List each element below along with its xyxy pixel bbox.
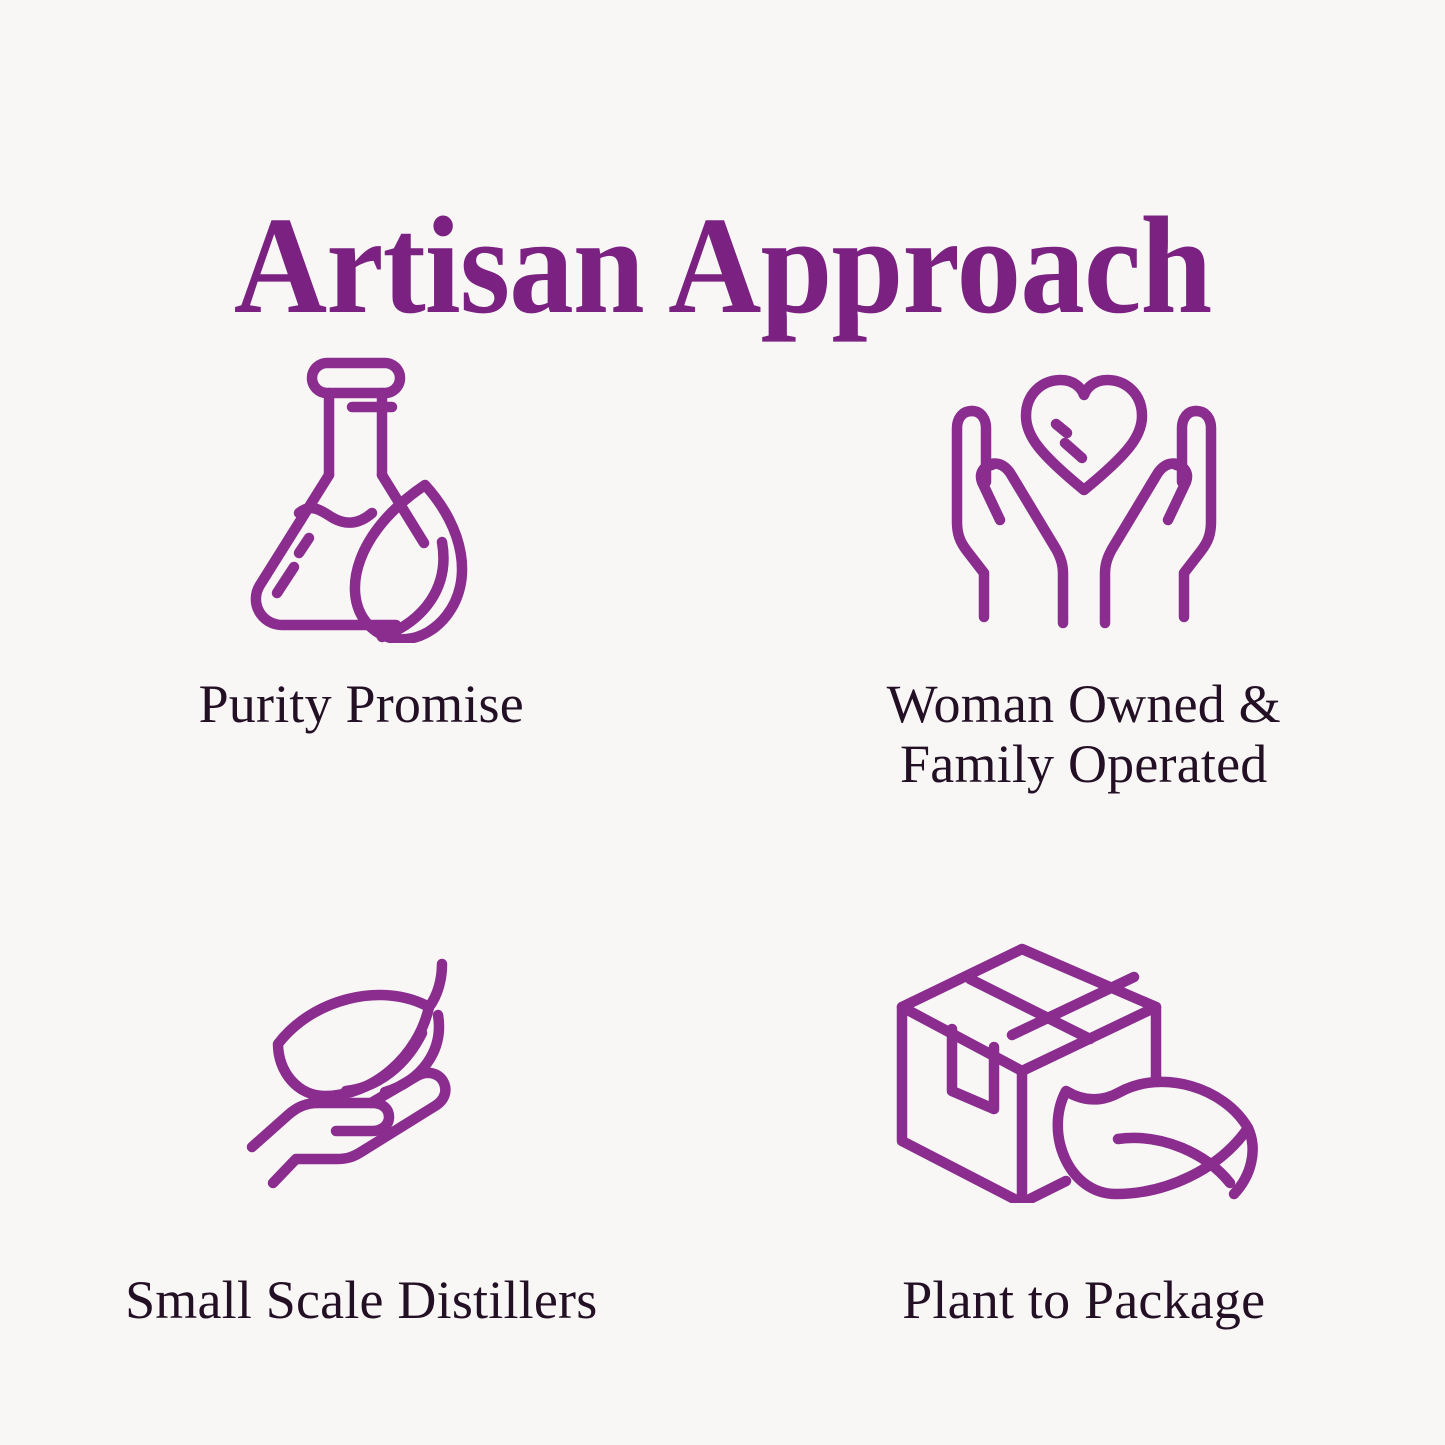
feature-caption-line-2: Family Operated <box>887 734 1281 794</box>
feature-icon-container <box>894 922 1274 1222</box>
feature-icon-container <box>936 348 1232 648</box>
feature-caption: Small Scale Distillers <box>125 1270 597 1330</box>
feature-caption-line-1: Woman Owned & <box>887 674 1281 734</box>
feature-caption: Plant to Package <box>902 1270 1265 1330</box>
artisan-approach-graphic: Artisan Approach <box>0 0 1445 1445</box>
page-title: Artisan Approach <box>234 197 1212 336</box>
feature-caption-line-1: Plant to Package <box>902 1270 1265 1330</box>
feature-caption: Woman Owned & Family Operated <box>887 674 1281 795</box>
feature-caption: Purity Promise <box>199 674 524 734</box>
feature-caption-line-1: Purity Promise <box>199 674 524 734</box>
box-with-leaf-icon <box>894 941 1274 1203</box>
feature-item-woman-owned: Woman Owned & Family Operated <box>723 330 1445 840</box>
hands-holding-heart-icon <box>936 362 1232 634</box>
feature-icon-container <box>230 348 492 648</box>
feature-grid: Purity Promise <box>0 330 1445 1390</box>
feature-caption-line-1: Small Scale Distillers <box>125 1270 597 1330</box>
feature-item-small-scale-distillers: Small Scale Distillers <box>0 870 723 1380</box>
feature-item-plant-to-package: Plant to Package <box>723 870 1445 1380</box>
feature-icon-container <box>240 922 482 1222</box>
hand-holding-leaf-icon <box>240 951 482 1193</box>
flask-with-leaf-icon <box>230 353 492 643</box>
feature-item-purity-promise: Purity Promise <box>0 330 723 840</box>
